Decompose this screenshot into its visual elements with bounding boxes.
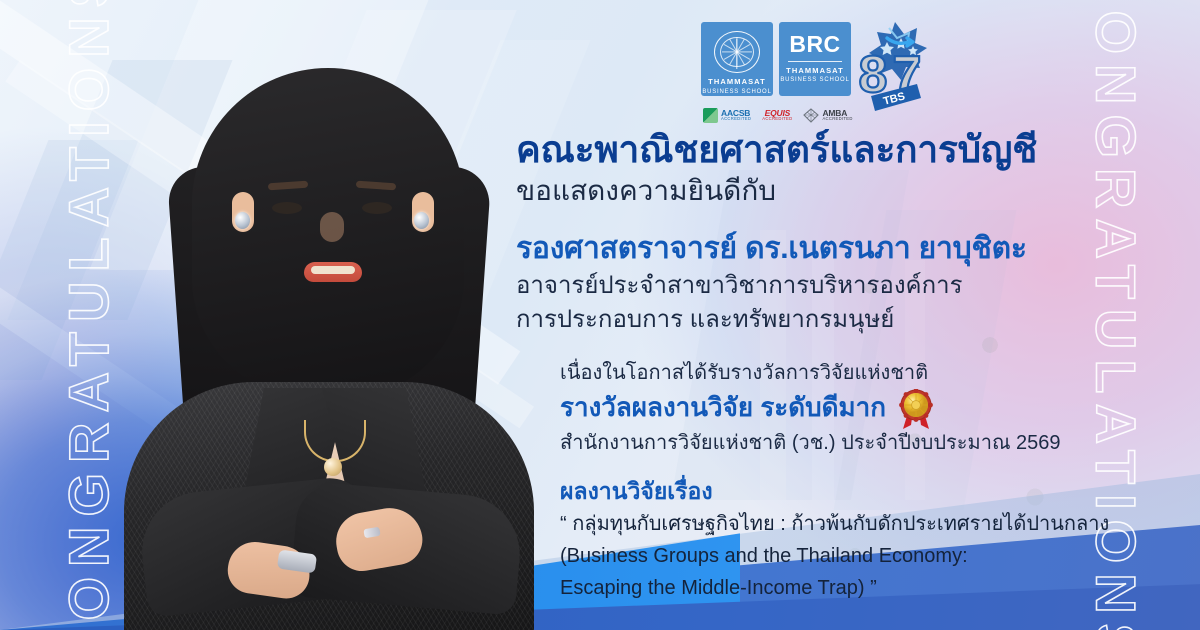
brc-acronym: BRC [789, 33, 840, 56]
amba-diamond-icon [803, 108, 819, 123]
honoree-position-line1: อาจารย์ประจำสาขาวิชาการบริหารองค์การ [516, 270, 1116, 302]
brc-logo: BRC THAMMASAT BUSINESS SCHOOL [779, 22, 851, 96]
research-title-english-line1: (Business Groups and the Thailand Econom… [560, 542, 1116, 571]
award-occasion: เนื่องในโอกาสได้รับรางวัลการวิจัยแห่งชาต… [560, 360, 1116, 387]
award-organization: สำนักงานการวิจัยแห่งชาติ (วช.) ประจำปีงบ… [560, 429, 1116, 457]
thammasat-dharmachakra-icon [714, 31, 760, 73]
amba-sub: ACCREDITED [822, 117, 852, 121]
award-title: รางวัลผลงานวิจัย ระดับดีมาก [560, 391, 886, 425]
aacsb-sub: ACCREDITED [721, 117, 751, 121]
main-text-content: คณะพาณิชยศาสตร์และการบัญชี ขอแสดงความยิน… [516, 128, 1116, 603]
honoree-position-line2: การประกอบการ และทรัพยากรมนุษย์ [516, 304, 1116, 336]
equis-sub: ACCREDITED [762, 117, 792, 121]
research-block: ผลงานวิจัยเรื่อง “ กลุ่มทุนกับเศรษฐกิจไท… [516, 477, 1116, 603]
accreditation-badge-aacsb: AACSB ACCREDITED [703, 108, 751, 123]
faculty-headline: คณะพาณิชยศาสตร์และการบัญชี [516, 128, 1116, 172]
award-block: เนื่องในโอกาสได้รับรางวัลการวิจัยแห่งชาต… [516, 360, 1116, 457]
accreditation-badge-amba: AMBA ACCREDITED [803, 108, 852, 123]
accreditation-badge-equis: EQUIS ACCREDITED [762, 109, 792, 122]
thammasat-business-school-logo: THAMMASAT BUSINESS SCHOOL [701, 22, 773, 96]
research-title-thai: “ กลุ่มทุนกับเศรษฐกิจไทย : ก้าวพ้นกับดัก… [560, 510, 1116, 539]
research-title-english-line2: Escaping the Middle-Income Trap) ” [560, 574, 1116, 603]
aacsb-mark-icon [703, 108, 718, 123]
honoree-name: รองศาสตราจารย์ ดร.เนตรนภา ยาบุชิตะ [516, 231, 1116, 268]
thammasat-logo-name-line2: BUSINESS SCHOOL [702, 88, 771, 96]
thammasat-logo-name-line1: THAMMASAT [708, 77, 766, 87]
honoree-block: รองศาสตราจารย์ ดร.เนตรนภา ยาบุชิตะ อาจาร… [516, 231, 1116, 336]
research-heading: ผลงานวิจัยเรื่อง [560, 477, 1116, 507]
accreditation-badges: AACSB ACCREDITED EQUIS ACCREDITED AMBA A… [703, 102, 883, 128]
logo-row: THAMMASAT BUSINESS SCHOOL BRC THAMMASAT … [697, 18, 927, 130]
congratulate-line: ขอแสดงความยินดีกับ [516, 173, 1116, 209]
honoree-portrait-photo [108, 16, 548, 630]
gold-medal-ribbon-icon [896, 389, 936, 431]
congratulations-banner: CONGRATULATIONS CONGRATULATIONS [0, 0, 1200, 630]
brc-logo-name-line1: THAMMASAT [786, 66, 844, 76]
brc-logo-name-line2: BUSINESS SCHOOL [780, 76, 849, 84]
